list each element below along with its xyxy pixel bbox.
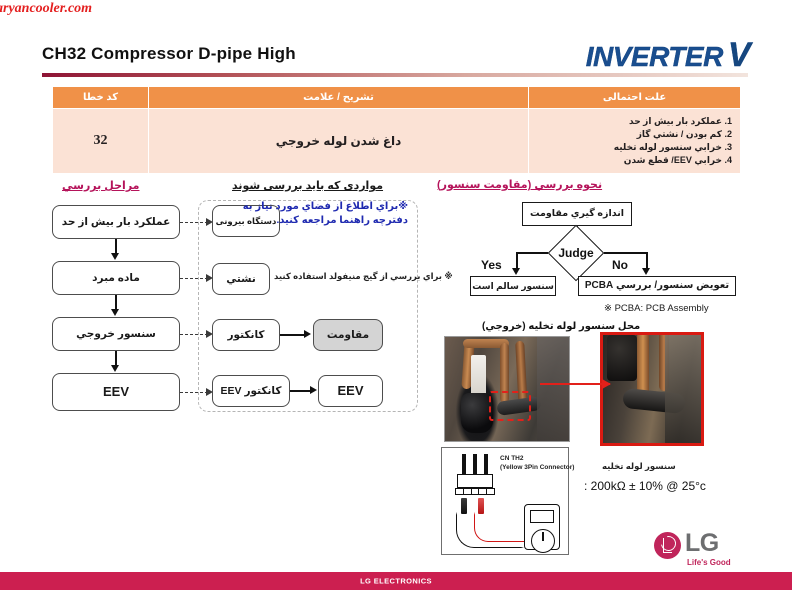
page-title: CH32 Compressor D-pipe High [42, 44, 296, 64]
connector-line [604, 252, 647, 254]
lg-face-icon [654, 532, 681, 559]
item-box-eev: EEV [318, 375, 383, 407]
table-header-row: کد خطا تشریح / علامت علت احتمالی [53, 87, 741, 109]
arrow-right-icon [310, 386, 317, 394]
no-label: No [612, 258, 628, 272]
multimeter [524, 504, 560, 550]
lg-tagline: Life's Good [687, 558, 731, 567]
callout-arrow-icon [540, 383, 610, 385]
arrow-down-icon [111, 253, 119, 260]
panel-edge [665, 335, 701, 443]
item-box-leak: نشتي [212, 263, 270, 295]
step-box-eev: EEV [52, 373, 180, 411]
site-watermark: aryancooler.com [0, 1, 92, 17]
connector-desc: (Yellow 3Pin Connector) [500, 464, 574, 473]
method-heading: نحوه بررسي (مقاومت سنسور) [437, 178, 602, 191]
arrow-right-icon [304, 330, 311, 338]
connector-line [290, 390, 312, 392]
connector-name: CN TH2 [500, 455, 574, 464]
footer-bar: LG ELECTRONICS [0, 572, 792, 590]
inverter-logo-v: V [728, 36, 750, 74]
yes-label: Yes [481, 258, 502, 272]
zoomed-sensor-photo [600, 332, 704, 446]
footer-text: LG ELECTRONICS [360, 577, 432, 586]
cell-causes: 1. عملکرد بار بیش از حد 2. کم بودن / نشت… [529, 109, 741, 174]
spec-value: : 200kΩ ± 10% @ 25°c [584, 479, 706, 493]
meter-dial [531, 529, 555, 553]
cause-item: 1. عملکرد بار بیش از حد [537, 115, 732, 128]
connector-socket [455, 488, 495, 495]
cause-item: 3. خرابي سنسور لوله تخلیه [537, 141, 732, 154]
error-code-table: کد خطا تشریح / علامت علت احتمالی 32 داغ … [52, 86, 741, 174]
item-box-resistance: مقاومت [313, 319, 383, 351]
item-box-connector: کانکتور [212, 319, 280, 351]
table-row: 32 داغ شدن لوله خروجي 1. عملکرد بار بیش … [53, 109, 741, 174]
arrow-down-icon [111, 365, 119, 372]
arrow-down-icon [111, 309, 119, 316]
clearance-note: ※براي اطلاع از فضاي مورد نیاز به دفترچه … [218, 200, 408, 227]
cell-symptom: داغ شدن لوله خروجي [149, 109, 529, 174]
inverter-logo-text: INVERTER [586, 41, 723, 72]
compressor-photo [444, 336, 570, 442]
steps-heading: مراحل بررسي [62, 179, 139, 192]
cause-item: 2. کم بودن / نشتي گاز [537, 128, 732, 141]
lg-wordmark: LG [685, 531, 719, 556]
cell-error-code: 32 [53, 109, 149, 174]
connector-line [516, 252, 548, 254]
connector-label: CN TH2 (Yellow 3Pin Connector) [500, 455, 574, 473]
slide-canvas: aryancooler.com CH32 Compressor D-pipe H… [0, 0, 792, 612]
header-code: کد خطا [53, 87, 149, 109]
method-box-measure: اندازه گیري مقاومت [522, 202, 632, 226]
pcba-abbrev-note: ※ PCBA: PCB Assembly [604, 303, 709, 314]
red-lead-wire [474, 512, 530, 542]
photo-caption: محل سنسور لوله تخلیه (خروجي) [482, 321, 640, 332]
highlight-box [489, 391, 531, 421]
connector-line [280, 334, 306, 336]
connector-pin [484, 454, 488, 476]
header-cause: علت احتمالی [529, 87, 741, 109]
header-symptom: تشریح / علامت [149, 87, 529, 109]
connector-pin [473, 454, 477, 476]
spec-label: سنسور لوله تخلیه [602, 461, 676, 472]
items-heading: مواردی که باید بررسی شوند [232, 179, 383, 192]
title-divider [42, 73, 748, 77]
method-box-replace-sensor: تعویض سنسور/ بررسي PCBA [578, 276, 736, 296]
manifold-gauge-note: ※ براي بررسي از گیج منیفولد استفاده کنید [274, 271, 453, 282]
judge-label: Judge [558, 246, 593, 260]
dark-component [607, 335, 637, 381]
lg-logo: LG Life's Good [654, 530, 750, 572]
cause-item: 4. خرابي EEV/ قطع شدن [537, 154, 732, 167]
step-box-overload: عملکرد بار بیش از حد [52, 205, 180, 239]
arrow-down-icon [512, 268, 520, 275]
method-box-sensor-ok: سنسور سالم است [470, 276, 556, 296]
step-box-refrigerant: ماده مبرد [52, 261, 180, 295]
meter-display [530, 510, 554, 523]
panel-edge [537, 337, 569, 441]
connector-housing [457, 474, 493, 488]
connector-pin [462, 454, 466, 476]
arrow-down-icon [642, 268, 650, 275]
inverter-v-logo: INVERTERV [586, 36, 750, 75]
measurement-diagram: CN TH2 (Yellow 3Pin Connector) [441, 447, 569, 555]
white-component [471, 355, 486, 395]
item-box-eev-connector: کانکتور EEV [212, 375, 290, 407]
step-box-discharge-sensor: سنسور خروجي [52, 317, 180, 351]
